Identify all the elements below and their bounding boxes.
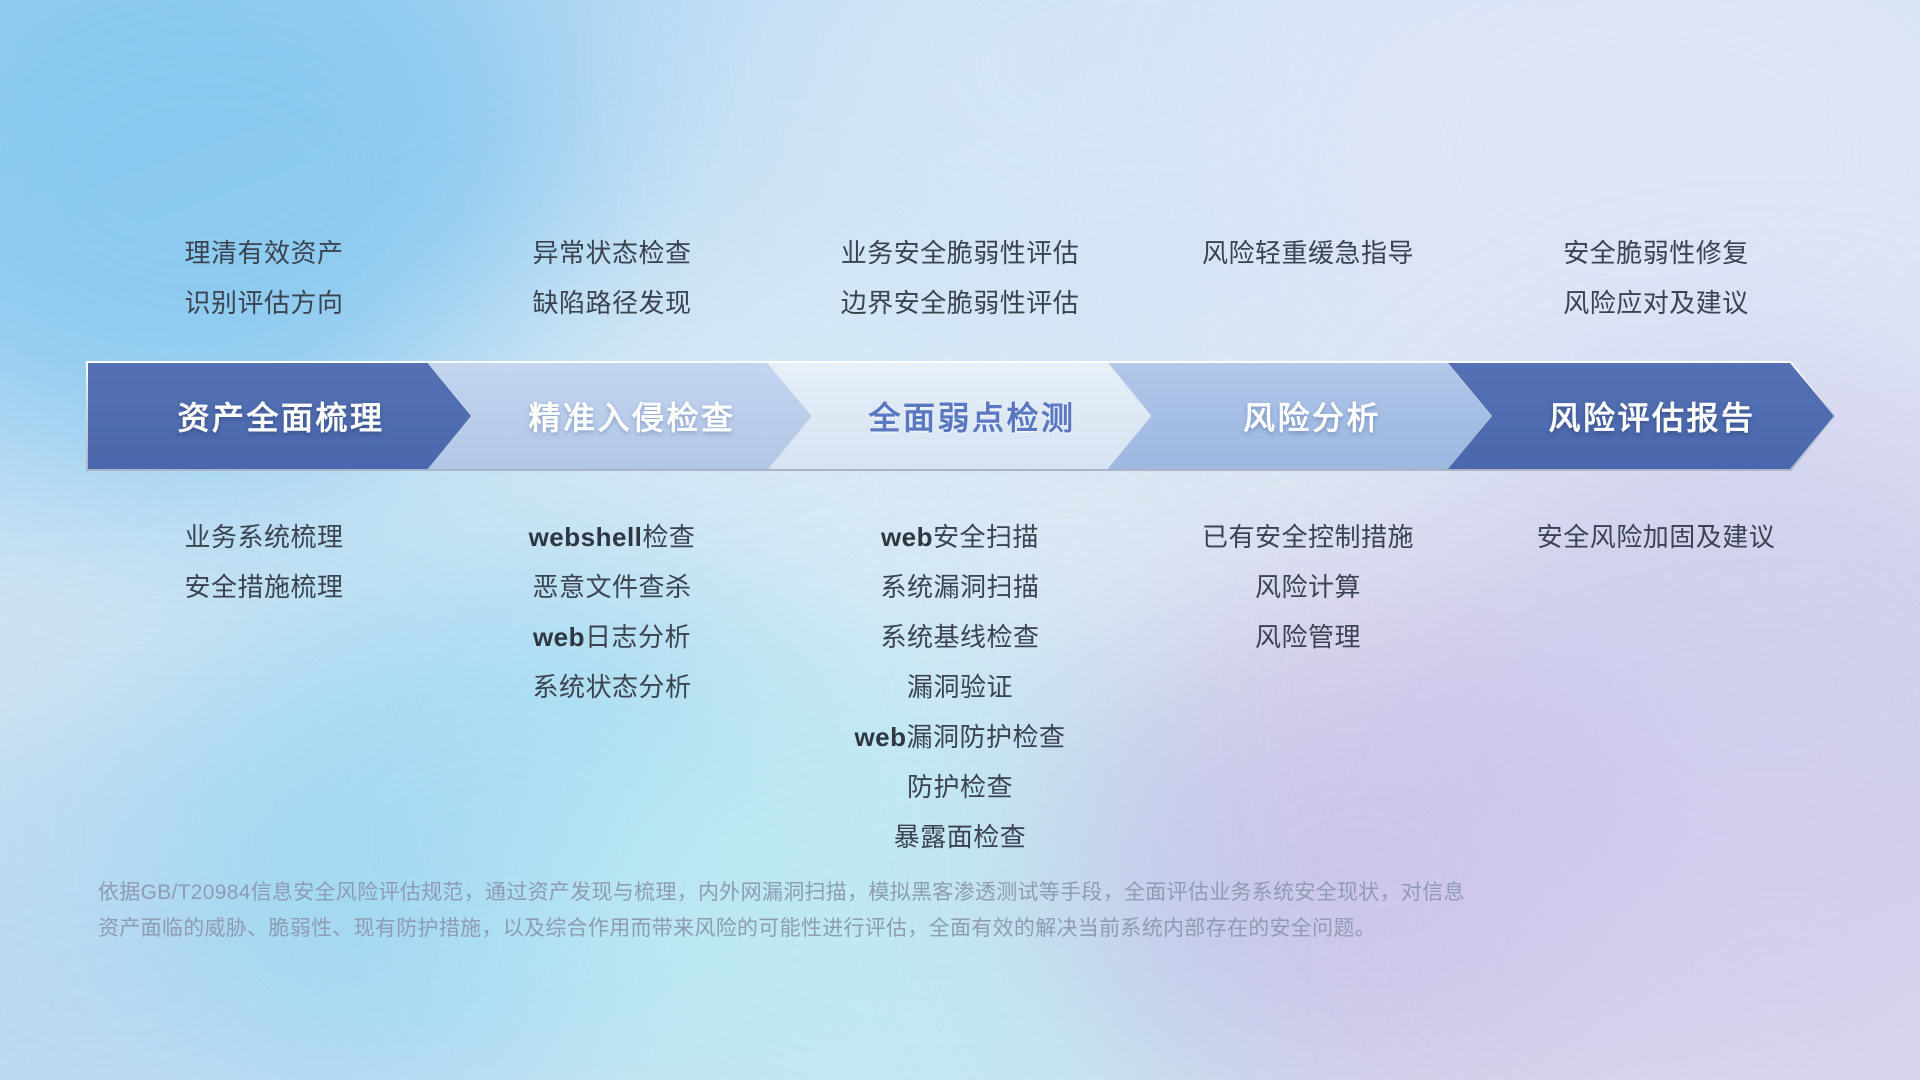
slide-canvas: 理清有效资产识别评估方向异常状态检查缺陷路径发现业务安全脆弱性评估边界安全脆弱性… (0, 0, 1920, 1080)
stage-output-item-label: 系统漏洞扫描 (880, 572, 1039, 602)
stage-output-item-label: 安全扫描 (933, 522, 1039, 552)
stage-output-item: 业务系统梳理 (184, 512, 343, 562)
stage-output-item: 风险计算 (1255, 562, 1361, 612)
stage-output-item-label: 日志分析 (585, 622, 691, 652)
stage-output-item: web日志分析 (533, 612, 691, 662)
stage-output-item-label: 漏洞验证 (907, 672, 1013, 702)
stage-output-item-keyword: webshell (529, 522, 643, 552)
stage-outputs-column: 业务系统梳理安全措施梳理 (90, 512, 438, 612)
stage-output-item: 系统基线检查 (880, 612, 1039, 662)
footnote-line-1: 依据GB/T20984信息安全风险评估规范，通过资产发现与梳理，内外网漏洞扫描，… (98, 875, 1758, 911)
stage-output-item-label: 风险计算 (1255, 572, 1361, 602)
stage-output-item-keyword: web (533, 622, 585, 652)
stage-chevron-label: 风险分析 (1243, 393, 1381, 439)
stage-output-item-label: 漏洞防护检查 (907, 722, 1066, 752)
process-arrow-banner: 资产全面梳理精准入侵检查全面弱点检测风险分析风险评估报告 (88, 363, 1834, 469)
stage-inputs-row: 理清有效资产识别评估方向异常状态检查缺陷路径发现业务安全脆弱性评估边界安全脆弱性… (90, 228, 1830, 328)
stage-output-item-label: 恶意文件查杀 (532, 572, 691, 602)
stage-output-item-label: 安全措施梳理 (184, 572, 343, 602)
stage-outputs-column: web安全扫描系统漏洞扫描系统基线检查漏洞验证web漏洞防护检查防护检查暴露面检… (786, 512, 1134, 862)
stage-output-item-label: 风险管理 (1255, 622, 1361, 652)
stage-output-item: 安全风险加固及建议 (1537, 512, 1776, 562)
stage-input-item: 风险轻重缓急指导 (1202, 228, 1414, 278)
stage-inputs-column: 风险轻重缓急指导 (1134, 228, 1482, 278)
stage-output-item: webshell检查 (529, 512, 696, 562)
stage-output-item: 系统漏洞扫描 (880, 562, 1039, 612)
footnote-line-2: 资产面临的威胁、脆弱性、现有防护措施，以及综合作用而带来风险的可能性进行评估，全… (98, 911, 1758, 947)
stage-output-item: 安全措施梳理 (184, 562, 343, 612)
stage-output-item-label: 安全风险加固及建议 (1537, 522, 1776, 552)
stage-chevron-label: 精准入侵检查 (528, 393, 735, 439)
stage-input-item: 安全脆弱性修复 (1563, 228, 1749, 278)
stage-inputs-column: 理清有效资产识别评估方向 (90, 228, 438, 328)
stage-chevron-1[interactable]: 资产全面梳理 (88, 363, 474, 469)
stage-chevron-5[interactable]: 风险评估报告 (1448, 363, 1834, 469)
stage-inputs-column: 异常状态检查缺陷路径发现 (438, 228, 786, 328)
stage-outputs-column: 安全风险加固及建议 (1482, 512, 1830, 562)
stage-input-item: 异常状态检查 (532, 228, 691, 278)
footnote: 依据GB/T20984信息安全风险评估规范，通过资产发现与梳理，内外网漏洞扫描，… (98, 875, 1758, 947)
stage-output-item-label: 系统基线检查 (880, 622, 1039, 652)
stage-output-item: 防护检查 (907, 762, 1013, 812)
stage-output-item: web安全扫描 (881, 512, 1039, 562)
stage-output-item-keyword: web (881, 522, 933, 552)
stage-chevron-label: 全面弱点检测 (868, 393, 1075, 439)
stage-inputs-column: 安全脆弱性修复风险应对及建议 (1482, 228, 1830, 328)
stage-output-item: 恶意文件查杀 (532, 562, 691, 612)
stage-input-item: 边界安全脆弱性评估 (841, 278, 1080, 328)
stage-output-item: 风险管理 (1255, 612, 1361, 662)
stage-chevron-label: 风险评估报告 (1548, 393, 1755, 439)
stage-output-item-label: 业务系统梳理 (184, 522, 343, 552)
stage-chevron-2[interactable]: 精准入侵检查 (428, 363, 814, 469)
stage-outputs-row: 业务系统梳理安全措施梳理webshell检查恶意文件查杀web日志分析系统状态分… (90, 512, 1830, 862)
stage-output-item-label: 系统状态分析 (532, 672, 691, 702)
stage-output-item: 漏洞验证 (907, 662, 1013, 712)
stage-input-item: 理清有效资产 (184, 228, 343, 278)
stage-chevron-3[interactable]: 全面弱点检测 (768, 363, 1154, 469)
stage-output-item: 系统状态分析 (532, 662, 691, 712)
stage-input-item: 缺陷路径发现 (532, 278, 691, 328)
stage-output-item: web漏洞防护检查 (854, 712, 1065, 762)
stage-output-item-label: 防护检查 (907, 772, 1013, 802)
stage-chevron-label: 资产全面梳理 (177, 393, 384, 439)
stage-output-item-label: 暴露面检查 (894, 822, 1027, 852)
stage-inputs-column: 业务安全脆弱性评估边界安全脆弱性评估 (786, 228, 1134, 328)
stage-outputs-column: 已有安全控制措施风险计算风险管理 (1134, 512, 1482, 662)
stage-chevron-4[interactable]: 风险分析 (1108, 363, 1494, 469)
stage-input-item: 业务安全脆弱性评估 (841, 228, 1080, 278)
stage-input-item: 识别评估方向 (184, 278, 343, 328)
stage-output-item: 已有安全控制措施 (1202, 512, 1414, 562)
stage-outputs-column: webshell检查恶意文件查杀web日志分析系统状态分析 (438, 512, 786, 712)
stage-output-item: 暴露面检查 (894, 812, 1027, 862)
stage-output-item-label: 已有安全控制措施 (1202, 522, 1414, 552)
stage-output-item-keyword: web (854, 722, 906, 752)
stage-input-item: 风险应对及建议 (1563, 278, 1749, 328)
stage-output-item-label: 检查 (642, 522, 695, 552)
